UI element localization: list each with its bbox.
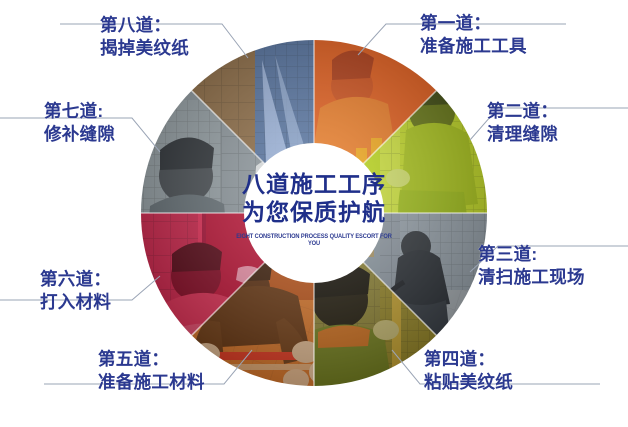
step-label-8-line2: 揭掉美纹纸	[100, 37, 189, 60]
step-label-6: 第六道： 打入材料	[40, 268, 111, 314]
step-label-1-line2: 准备施工工具	[420, 35, 527, 58]
step-label-2: 第二道： 清理缝隙	[487, 100, 558, 146]
step-label-8: 第八道： 揭掉美纹纸	[100, 14, 189, 60]
step-label-1: 第一道： 准备施工工具	[420, 12, 527, 58]
step-label-4-line1: 第四道：	[424, 348, 513, 371]
step-label-3-line2: 清扫施工现场	[478, 266, 585, 289]
step-label-7-line2: 修补缝隙	[44, 123, 115, 146]
step-label-7-line1: 第七道:	[44, 100, 115, 123]
step-label-5-line1: 第五道：	[98, 348, 205, 371]
step-label-2-line2: 清理缝隙	[487, 123, 558, 146]
step-label-6-line1: 第六道：	[40, 268, 111, 291]
step-label-2-line1: 第二道：	[487, 100, 558, 123]
step-label-6-line2: 打入材料	[40, 291, 111, 314]
step-label-4: 第四道： 粘贴美纹纸	[424, 348, 513, 394]
infographic-canvas: 八道施工工序 为您保质护航 EIGHT CONSTRUCTION PROCESS…	[0, 0, 628, 427]
process-wheel	[0, 0, 628, 427]
step-label-5-line2: 准备施工材料	[98, 371, 205, 394]
step-label-1-line1: 第一道：	[420, 12, 527, 35]
step-label-3-line1: 第三道:	[478, 243, 585, 266]
step-label-7: 第七道: 修补缝隙	[44, 100, 115, 146]
step-label-4-line2: 粘贴美纹纸	[424, 371, 513, 394]
step-label-8-line1: 第八道：	[100, 14, 189, 37]
step-label-5: 第五道： 准备施工材料	[98, 348, 205, 394]
center-hub	[244, 143, 384, 283]
step-label-3: 第三道: 清扫施工现场	[478, 243, 585, 289]
